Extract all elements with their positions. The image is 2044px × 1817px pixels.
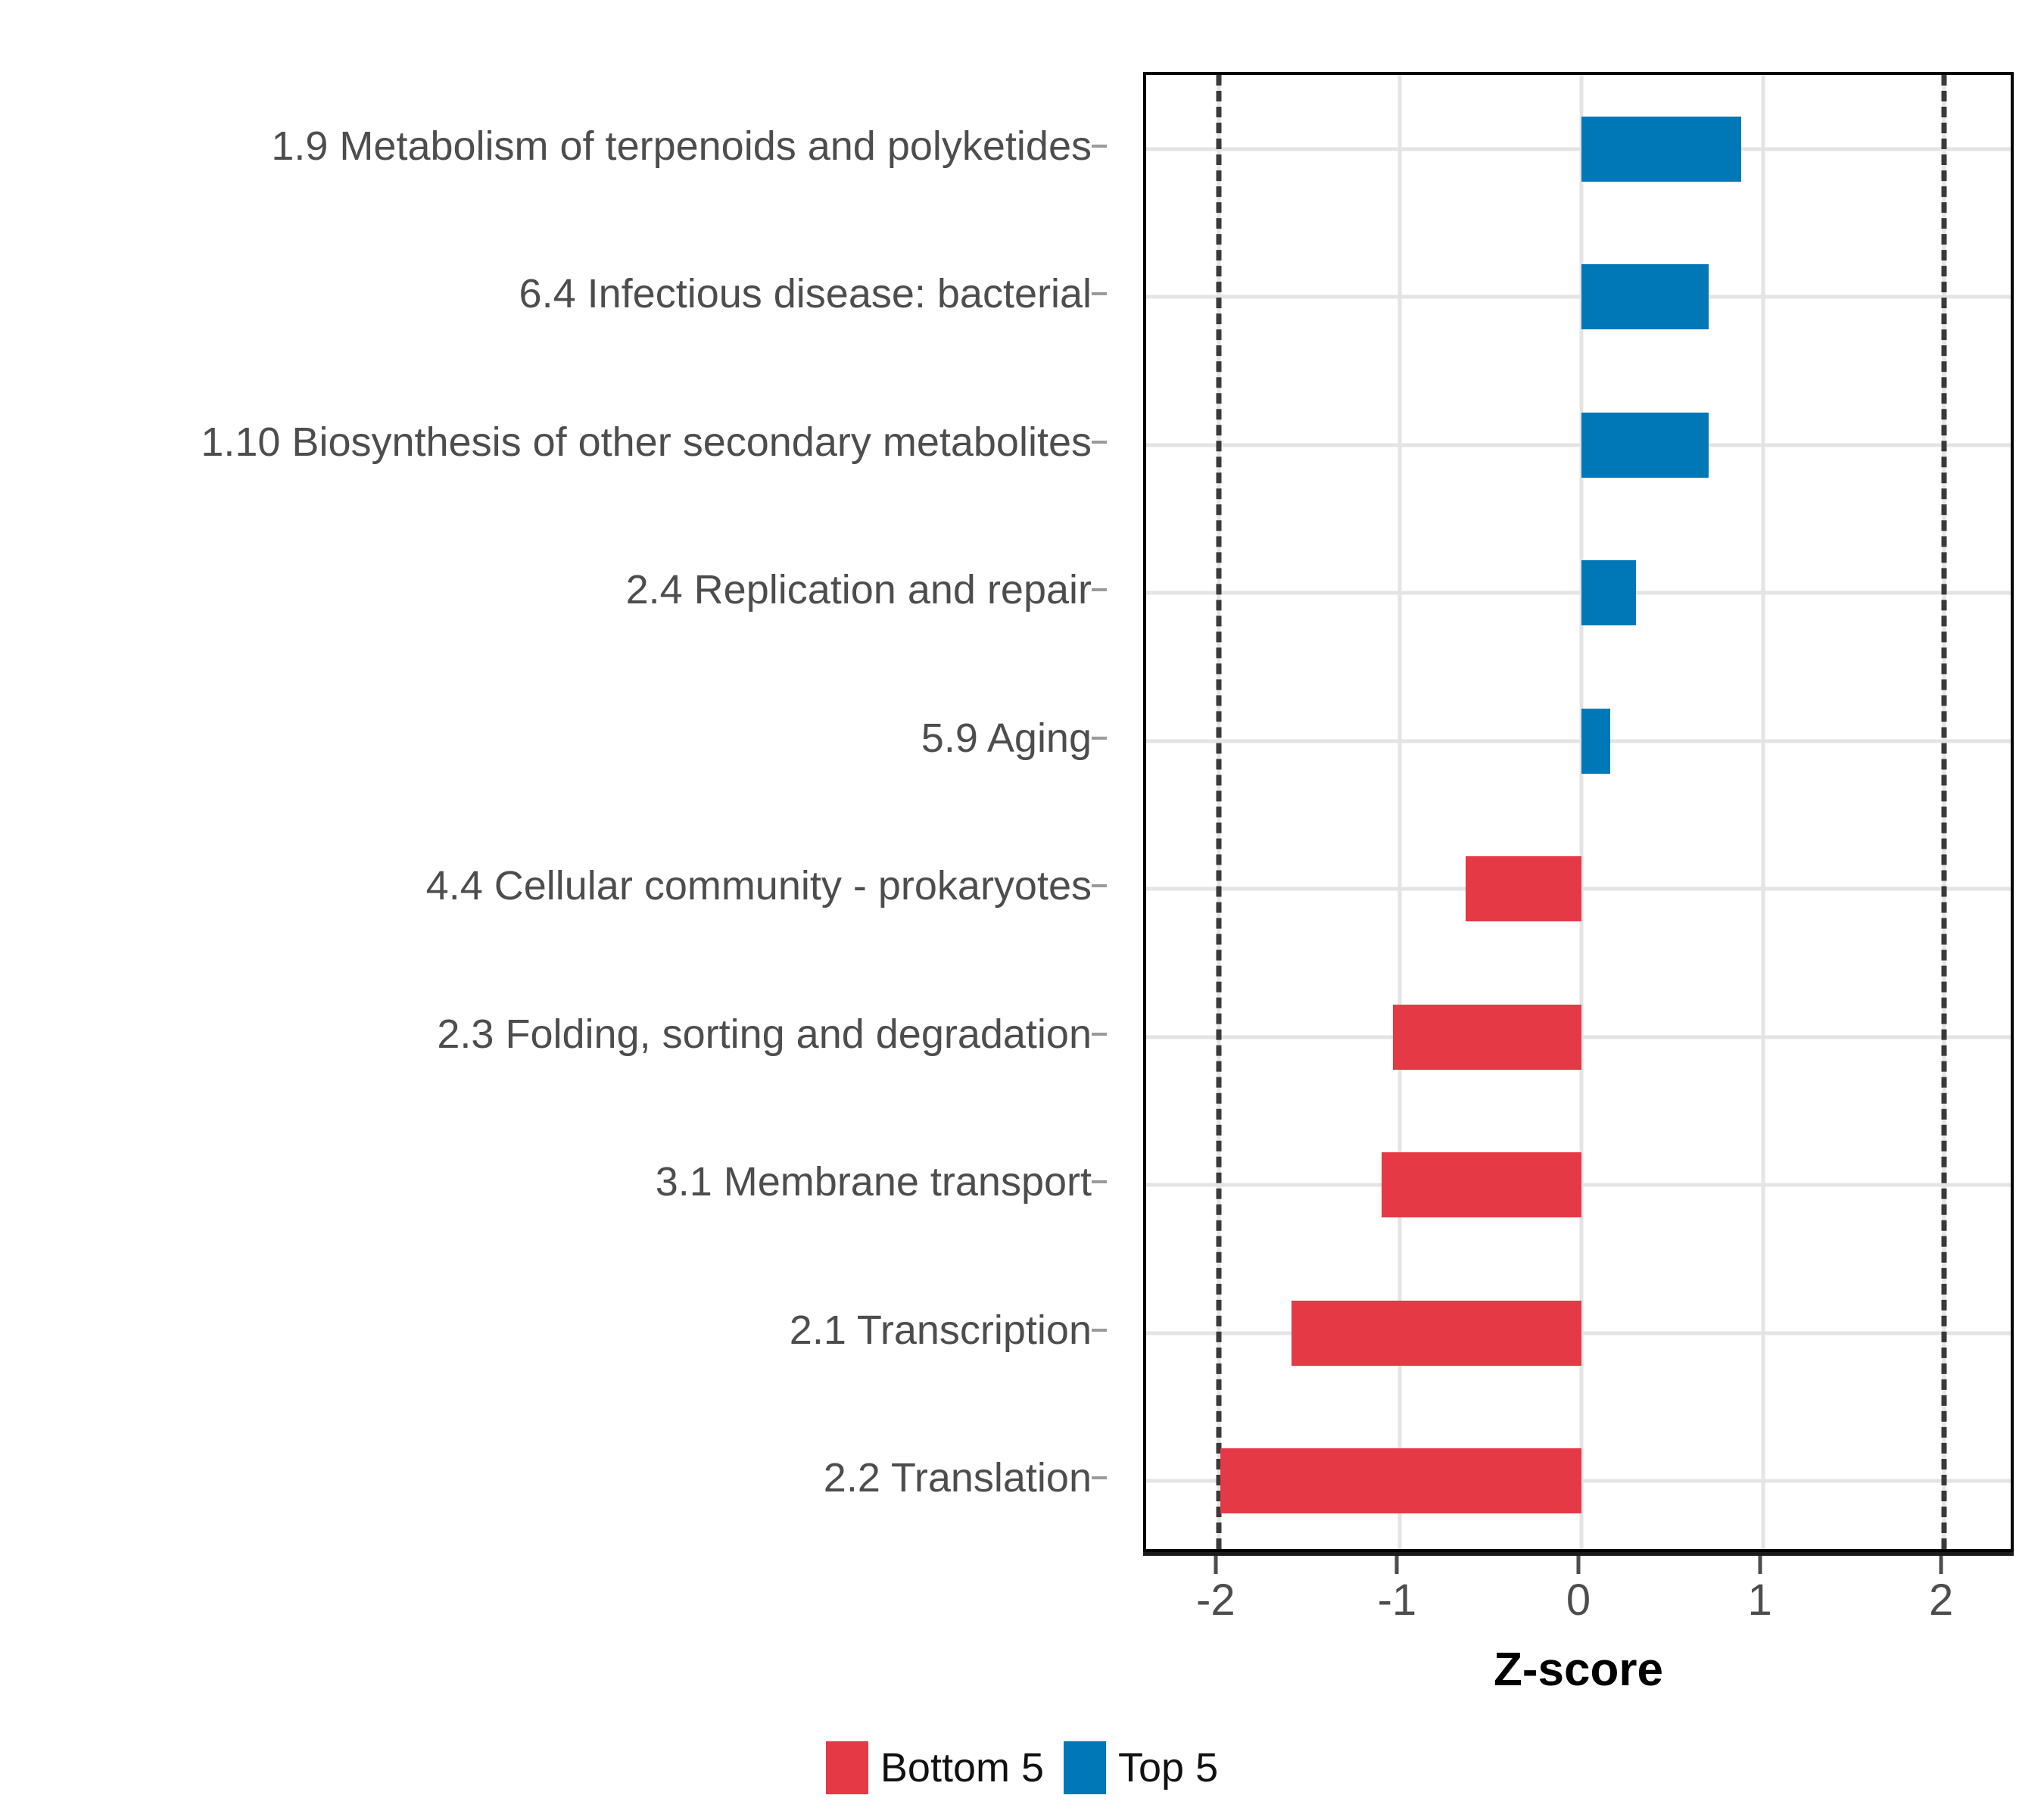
y-axis-label: 2.1 Transcription xyxy=(790,1310,1092,1351)
y-axis-tick xyxy=(1092,441,1107,444)
y-axis-label: 2.4 Replication and repair xyxy=(626,569,1092,610)
bar xyxy=(1581,709,1610,774)
bar xyxy=(1581,560,1636,625)
legend-item: Top 5 xyxy=(1064,1741,1218,1794)
x-axis-tick-label: 0 xyxy=(1566,1579,1591,1622)
y-axis-label: 5.9 Aging xyxy=(921,718,1092,759)
y-axis-label: 3.1 Membrane transport xyxy=(656,1161,1092,1202)
bar xyxy=(1220,1448,1581,1513)
legend-label: Top 5 xyxy=(1118,1747,1218,1788)
reference-line xyxy=(1216,75,1221,1549)
horizontal-gridline xyxy=(1146,443,2011,447)
y-axis-label: 2.3 Folding, sorting and degradation xyxy=(437,1014,1092,1055)
bar xyxy=(1292,1301,1581,1366)
y-axis-label: 1.9 Metabolism of terpenoids and polyket… xyxy=(271,126,1092,167)
y-axis-tick xyxy=(1092,1033,1107,1036)
y-axis-tick xyxy=(1092,737,1107,740)
y-axis-label: 2.2 Translation xyxy=(824,1457,1092,1498)
x-axis-tick xyxy=(1577,1556,1581,1574)
chart-legend: Bottom 5Top 5 xyxy=(0,1741,2044,1794)
bar xyxy=(1466,856,1581,921)
vertical-gridline xyxy=(1761,75,1765,1549)
horizontal-gridline xyxy=(1146,147,2011,151)
plot-panel xyxy=(1143,72,2014,1552)
chart-root: 1.9 Metabolism of terpenoids and polyket… xyxy=(0,0,2044,1817)
y-axis-tick xyxy=(1092,1476,1107,1479)
bar xyxy=(1581,264,1709,329)
legend-swatch-icon xyxy=(826,1741,868,1794)
x-axis-tick-label: -2 xyxy=(1196,1579,1235,1622)
bar xyxy=(1393,1005,1581,1070)
y-axis-labels: 1.9 Metabolism of terpenoids and polyket… xyxy=(0,72,1120,1552)
x-axis-tick xyxy=(1395,1556,1399,1574)
y-axis-tick xyxy=(1092,292,1107,295)
y-axis-tick xyxy=(1092,588,1107,591)
x-axis-tick xyxy=(1758,1556,1762,1574)
x-axis-tick-label: 1 xyxy=(1747,1579,1771,1622)
horizontal-gridline xyxy=(1146,295,2011,299)
x-axis-tick xyxy=(1940,1556,1943,1574)
bar xyxy=(1581,413,1709,478)
horizontal-gridline xyxy=(1146,739,2011,743)
horizontal-gridline xyxy=(1146,591,2011,595)
y-axis-label: 1.10 Biosynthesis of other secondary met… xyxy=(201,422,1092,463)
legend-swatch-icon xyxy=(1064,1741,1106,1794)
y-axis-tick xyxy=(1092,145,1107,148)
reference-line xyxy=(1942,75,1947,1549)
y-axis-label: 4.4 Cellular community - prokaryotes xyxy=(426,865,1092,906)
y-axis-tick xyxy=(1092,884,1107,887)
y-axis-tick xyxy=(1092,1329,1107,1332)
bar xyxy=(1581,117,1741,182)
y-axis-label: 6.4 Infectious disease: bacterial xyxy=(519,273,1092,314)
x-axis-tick-label: 2 xyxy=(1929,1579,1953,1622)
bar xyxy=(1382,1152,1581,1217)
x-axis-tick-label: -1 xyxy=(1378,1579,1417,1622)
legend-item: Bottom 5 xyxy=(826,1741,1044,1794)
x-axis-tick xyxy=(1214,1556,1217,1574)
legend-label: Bottom 5 xyxy=(880,1747,1044,1788)
y-axis-tick xyxy=(1092,1180,1107,1183)
x-axis-title: Z-score xyxy=(1143,1647,2014,1694)
